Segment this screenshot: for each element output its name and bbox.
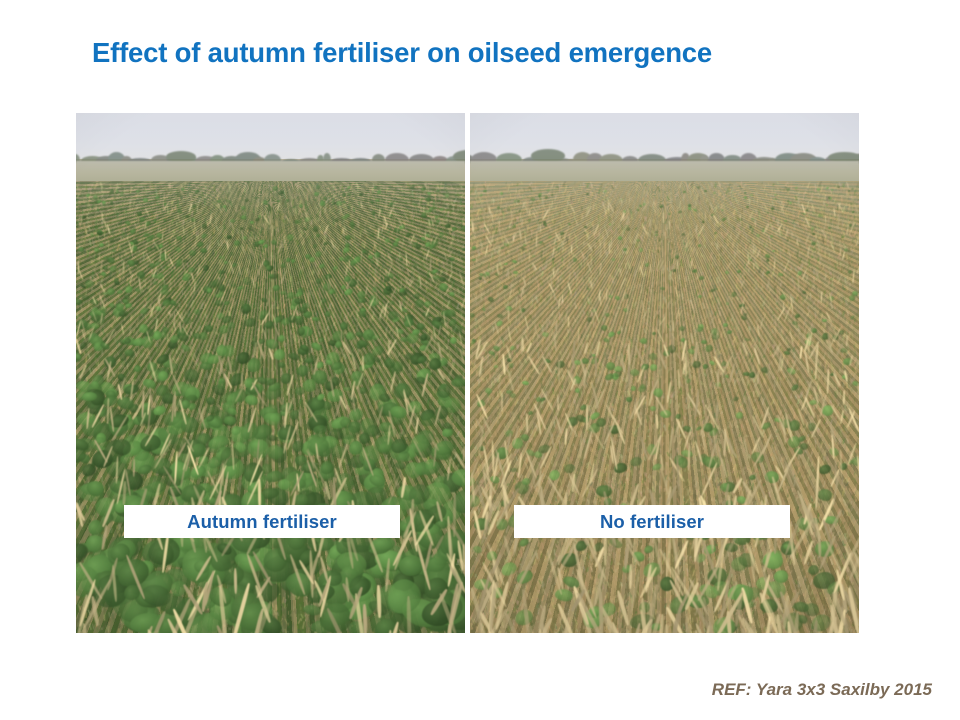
field-rows-region (76, 181, 465, 633)
far-field-band (470, 161, 859, 183)
photo-autumn-fertiliser (76, 113, 465, 633)
caption-autumn-fertiliser: Autumn fertiliser (124, 505, 400, 538)
reference-note: REF: Yara 3x3 Saxilby 2015 (712, 680, 932, 700)
caption-no-fertiliser: No fertiliser (514, 505, 790, 538)
page-title: Effect of autumn fertiliser on oilseed e… (92, 38, 882, 68)
leaf-canopy (76, 181, 465, 633)
photo-no-fertiliser (470, 113, 859, 633)
far-field-band (76, 161, 465, 183)
field-rows-region (470, 181, 859, 633)
caption-label: No fertiliser (600, 511, 704, 533)
leaf-canopy (470, 181, 859, 633)
caption-label: Autumn fertiliser (187, 511, 337, 533)
